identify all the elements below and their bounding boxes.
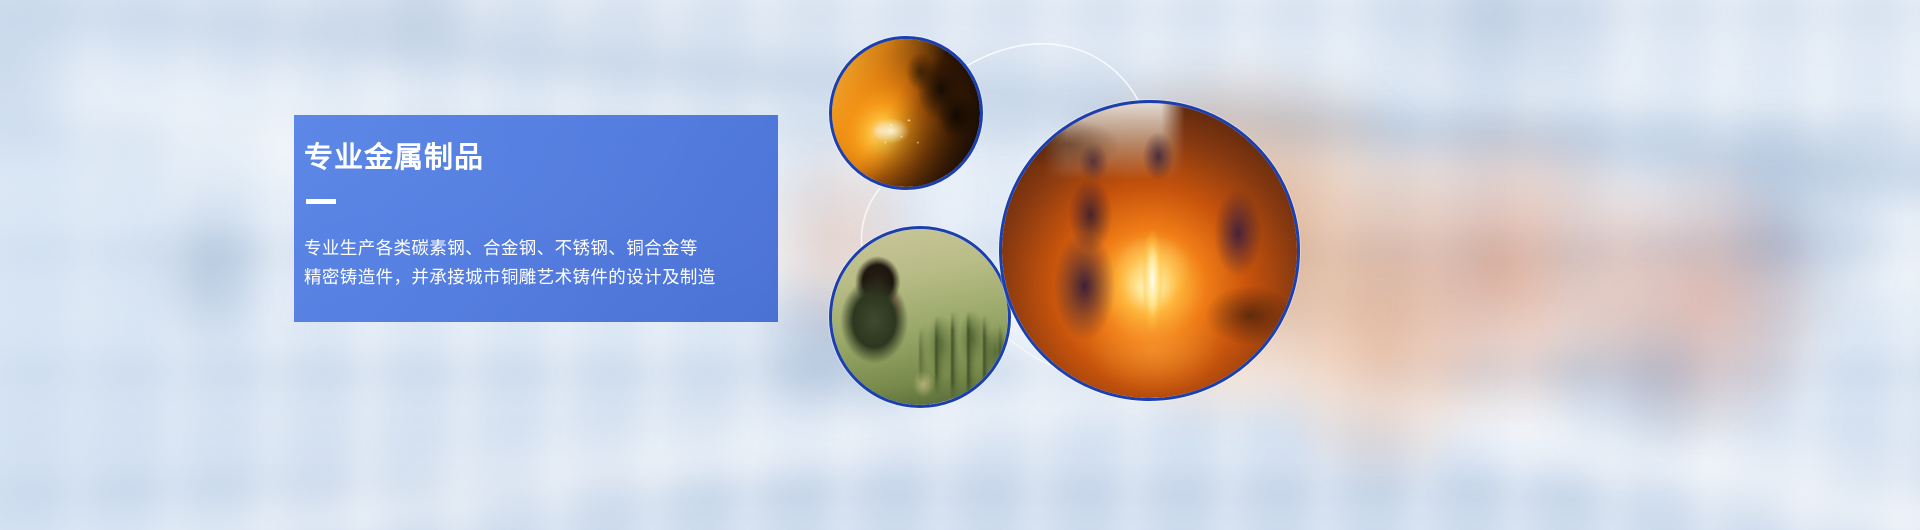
hero-banner: 专业金属制品 专业生产各类碳素钢、合金钢、不锈钢、铜合金等 精密铸造件，并承接城…	[0, 0, 1920, 530]
photo-inspection-castings	[829, 226, 1011, 408]
inspection-worker	[832, 229, 1008, 405]
banner-description: 专业生产各类碳素钢、合金钢、不锈钢、铜合金等 精密铸造件，并承接城市铜雕艺术铸件…	[304, 234, 778, 292]
banner-description-line-1: 专业生产各类碳素钢、合金钢、不锈钢、铜合金等	[304, 234, 778, 263]
text-panel: 专业金属制品 专业生产各类碳素钢、合金钢、不锈钢、铜合金等 精密铸造件，并承接城…	[294, 115, 778, 322]
banner-description-line-2: 精密铸造件，并承接城市铜雕艺术铸件的设计及制造	[304, 263, 778, 292]
foundry-molten-stream	[1002, 103, 1297, 398]
photo-welding-sparks	[829, 36, 983, 190]
photo-foundry-pour	[999, 100, 1300, 401]
banner-heading: 专业金属制品	[304, 143, 778, 175]
welding-sparks	[832, 39, 980, 187]
connector-arc-top	[960, 44, 1140, 104]
heading-divider-rule	[306, 199, 336, 204]
